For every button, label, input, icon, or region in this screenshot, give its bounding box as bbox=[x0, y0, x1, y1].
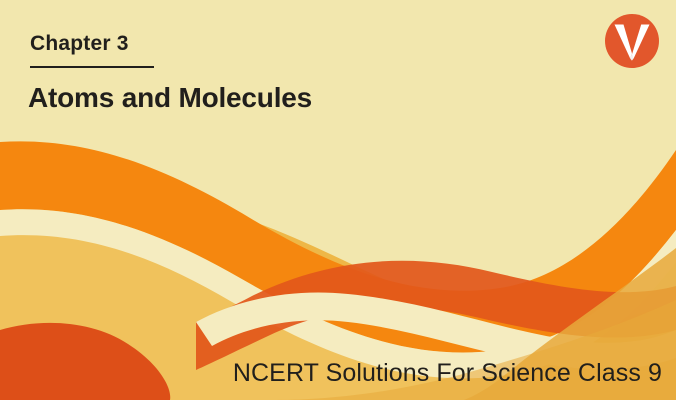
cover-text-layer: Chapter 3 Atoms and Molecules NCERT Solu… bbox=[0, 0, 676, 400]
footer-subject-title: NCERT Solutions For Science Class 9 bbox=[233, 361, 662, 386]
vedantu-v-logo-icon[interactable] bbox=[604, 13, 660, 69]
chapter-underline-rule bbox=[30, 66, 154, 68]
chapter-title: Atoms and Molecules bbox=[28, 81, 312, 114]
chapter-cover-card: Chapter 3 Atoms and Molecules NCERT Solu… bbox=[0, 0, 676, 400]
v-logo-svg bbox=[604, 13, 660, 69]
chapter-number-label: Chapter 3 bbox=[30, 33, 129, 54]
